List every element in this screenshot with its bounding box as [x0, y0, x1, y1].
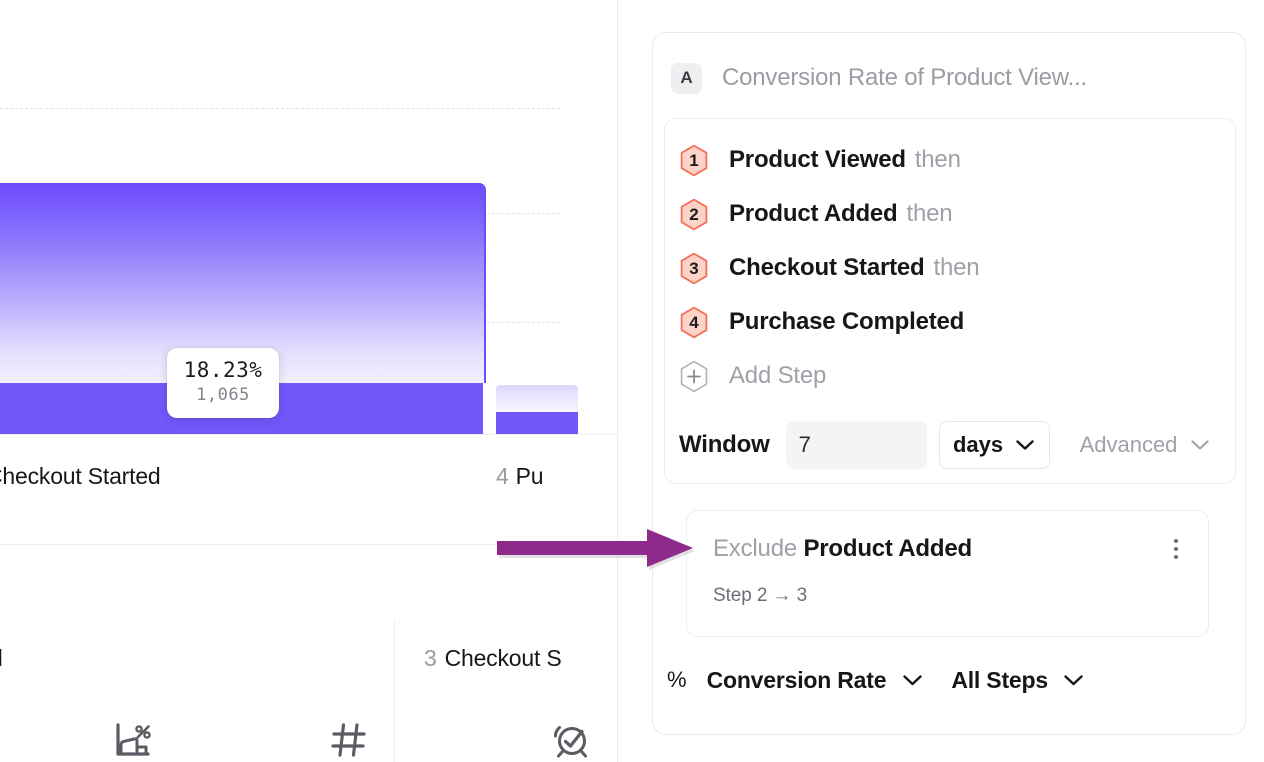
chart-axis-baseline: [0, 434, 617, 435]
step-label: Checkout Startedthen: [729, 253, 979, 283]
funnel-footer-controls: % Conversion Rate All Steps: [667, 660, 1084, 700]
funnel-step-row-3[interactable]: 3 Checkout Startedthen: [665, 241, 1235, 295]
exclusion-rule-header: Exclude Product Added: [687, 511, 1208, 564]
window-unit-select[interactable]: days: [939, 421, 1050, 469]
plus-hexagon-icon: [679, 360, 709, 393]
alarm-check-icon[interactable]: [551, 719, 593, 762]
exclusion-rule-title: Exclude Product Added: [713, 534, 972, 564]
step-number: 3: [689, 260, 698, 277]
funnel-title[interactable]: Conversion Rate of Product View...: [722, 63, 1087, 93]
step-event-name: Purchase Completed: [729, 308, 964, 335]
step-number-hexagon-icon: 3: [679, 252, 709, 285]
step-event-name: Checkout Started: [729, 254, 925, 281]
funnel-header: A Conversion Rate of Product View...: [653, 49, 1245, 107]
lower-card-label-b: 3Checkout S: [424, 643, 562, 673]
funnel-step-row-1[interactable]: 1 Product Viewedthen: [665, 133, 1235, 187]
lower-card-label-a: d: [0, 643, 3, 673]
step-connector: then: [907, 200, 953, 227]
conversion-window-row: Window 7 days Advanced: [679, 419, 1210, 471]
advanced-label: Advanced: [1080, 432, 1178, 458]
chevron-down-icon[interactable]: [902, 674, 923, 687]
step-label: Product Viewedthen: [729, 145, 961, 175]
lower-card-label-text: d: [0, 645, 3, 671]
axis-label-text: Pu: [516, 463, 544, 489]
step-label: Purchase Completed: [729, 307, 973, 337]
chevron-down-icon: [1190, 439, 1210, 451]
funnel-bar-purchase-completed[interactable]: [496, 385, 578, 434]
chevron-down-icon: [1015, 439, 1035, 451]
exclusion-rule-range: Step 2 → 3: [687, 564, 1208, 608]
menu-dot: [1174, 539, 1178, 543]
percent-icon: %: [667, 667, 687, 693]
window-value-input[interactable]: 7: [786, 421, 927, 469]
tooltip-count: 1,065: [179, 384, 267, 407]
step-connector: then: [934, 254, 980, 281]
exclusion-event-name: Product Added: [803, 535, 972, 562]
section-divider: [0, 544, 617, 545]
hash-icon[interactable]: [330, 721, 368, 762]
funnel-step-row-2[interactable]: 2 Product Addedthen: [665, 187, 1235, 241]
app-screen: Checkout Started 4Pu 18.23% 1,065 d 3Che…: [0, 0, 1264, 762]
advanced-options-toggle[interactable]: Advanced: [1080, 432, 1211, 458]
funnel-steps-card: 1 Product Viewedthen 2 Product Addedth: [664, 118, 1236, 484]
add-step-button[interactable]: Add Step: [665, 349, 1235, 403]
window-unit-label: days: [953, 432, 1003, 458]
axis-label-index: 4: [496, 463, 509, 489]
axis-label-text: Checkout Started: [0, 463, 161, 489]
section-divider: [394, 620, 395, 762]
axis-label-checkout-started: Checkout Started: [0, 461, 161, 491]
step-number: 4: [689, 314, 698, 331]
step-number-hexagon-icon: 1: [679, 144, 709, 177]
menu-dot: [1174, 555, 1178, 559]
add-step-label: Add Step: [729, 361, 826, 391]
step-label: Product Addedthen: [729, 199, 952, 229]
lower-card-label-index: 3: [424, 645, 437, 671]
exclusion-prefix: Exclude: [713, 535, 797, 562]
funnel-step-row-4[interactable]: 4 Purchase Completed: [665, 295, 1235, 349]
funnel-chart-region: Checkout Started 4Pu 18.23% 1,065 d 3Che…: [0, 0, 617, 762]
step-number: 2: [689, 206, 698, 223]
chart-gridline: [0, 108, 560, 109]
funnel-builder-panel: A Conversion Rate of Product View... 1 P…: [618, 0, 1264, 762]
scope-select-label[interactable]: All Steps: [951, 667, 1048, 694]
metric-select-label[interactable]: Conversion Rate: [707, 667, 887, 694]
overflow-menu-icon[interactable]: [1164, 536, 1188, 562]
percent-chart-icon[interactable]: [110, 721, 154, 762]
step-number: 1: [689, 152, 698, 169]
funnel-builder-card: A Conversion Rate of Product View... 1 P…: [652, 32, 1246, 735]
lower-card-label-text: Checkout S: [445, 645, 562, 671]
step-number-hexagon-icon: 4: [679, 306, 709, 339]
axis-label-purchase-completed: 4Pu: [496, 461, 543, 491]
step-event-name: Product Added: [729, 200, 898, 227]
chevron-down-icon[interactable]: [1063, 674, 1084, 687]
funnel-bar-solid: [496, 412, 578, 434]
tooltip-percent: 18.23%: [179, 357, 267, 383]
menu-dot: [1174, 547, 1178, 551]
step-number-hexagon-icon: 2: [679, 198, 709, 231]
funnel-letter-badge: A: [671, 63, 702, 94]
step-connector: then: [915, 146, 961, 173]
window-label: Window: [679, 430, 770, 460]
step-event-name: Product Viewed: [729, 146, 906, 173]
exclusion-rule-card[interactable]: Exclude Product Added Step 2 → 3: [686, 510, 1209, 637]
funnel-bar-gradient: [496, 385, 578, 412]
chart-tooltip: 18.23% 1,065: [167, 348, 279, 418]
